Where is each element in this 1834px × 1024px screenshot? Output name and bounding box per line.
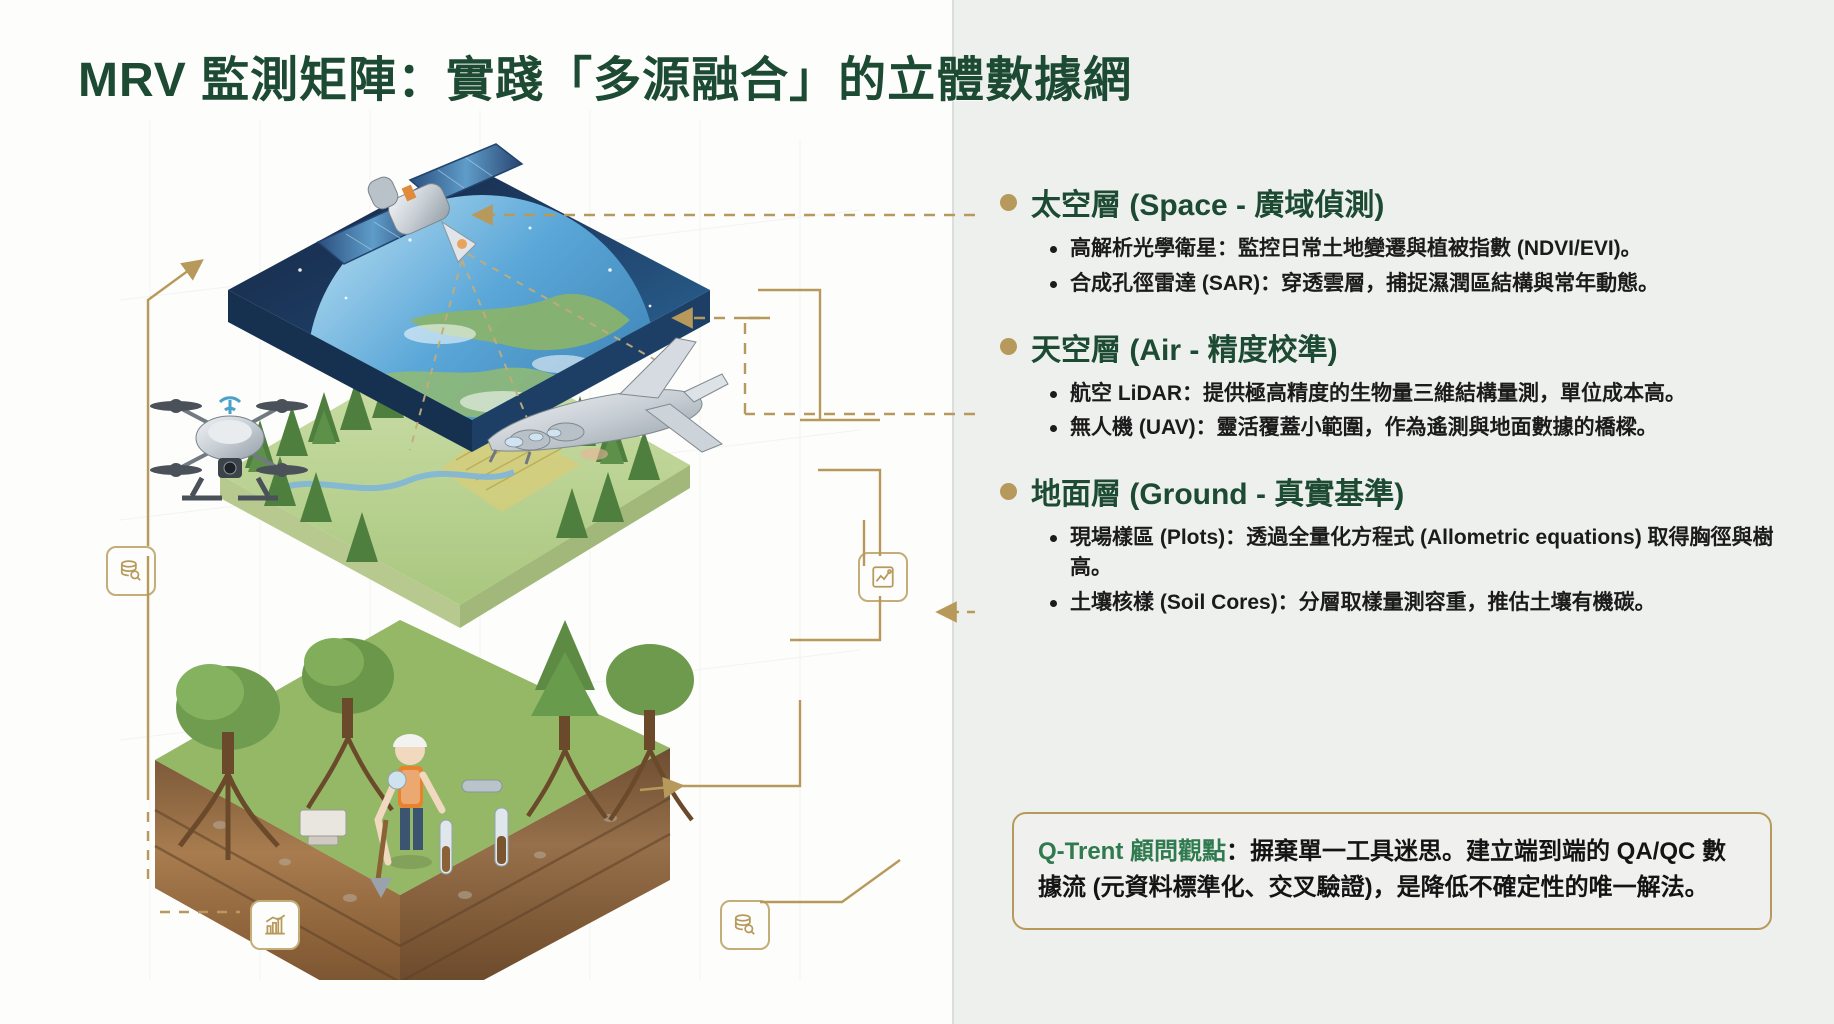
section-ground-header: 地面層 (Ground - 真實基準) <box>1000 469 1800 513</box>
layer-sections: 太空層 (Space - 廣域偵測) 高解析光學衛星：監控日常土地變遷與植被指數… <box>1000 180 1800 644</box>
section-air-bullets: 航空 LiDAR：提供極高精度的生物量三維結構量測，單位成本高。 無人機 (UA… <box>1000 379 1800 444</box>
list-item: 現場樣區 (Plots)：透過全量化方程式 (Allometric equati… <box>1048 523 1800 583</box>
list-item: 土壤核樣 (Soil Cores)：分層取樣量測容重，推估土壤有機碳。 <box>1048 588 1800 618</box>
section-space-title: 太空層 (Space - 廣域偵測) <box>1031 180 1384 224</box>
section-space-header: 太空層 (Space - 廣域偵測) <box>1000 180 1800 224</box>
list-item: 航空 LiDAR：提供極高精度的生物量三維結構量測，單位成本高。 <box>1048 379 1800 409</box>
section-air-title: 天空層 (Air - 精度校準) <box>1031 325 1338 369</box>
advisor-callout: Q-Trent 顧問觀點：摒棄單一工具迷思。建立端到端的 QA/QC 數據流 (… <box>1012 812 1772 930</box>
callout-brand: Q-Trent 顧問觀點 <box>1038 838 1226 865</box>
list-item: 合成孔徑雷達 (SAR)：穿透雲層，捕捉濕潤區結構與常年動態。 <box>1048 269 1800 299</box>
list-item: 無人機 (UAV)：靈活覆蓋小範圍，作為遙測與地面數據的橋樑。 <box>1048 413 1800 443</box>
ground-layer <box>155 620 694 980</box>
callout-text: Q-Trent 顧問觀點：摒棄單一工具迷思。建立端到端的 QA/QC 數據流 (… <box>1038 834 1746 906</box>
bar-chart-icon <box>250 900 300 950</box>
section-ground-title: 地面層 (Ground - 真實基準) <box>1031 469 1404 513</box>
panel-divider <box>952 0 954 1024</box>
mrv-isometric-illustration <box>110 120 850 980</box>
slide-root: MRV 監測矩陣：實踐「多源融合」的立體數據網 <box>0 0 1834 1024</box>
database-search-icon <box>106 546 156 596</box>
list-item: 高解析光學衛星：監控日常土地變遷與植被指數 (NDVI/EVI)。 <box>1048 234 1800 264</box>
section-bullet-dot-space <box>1000 194 1017 211</box>
section-bullet-dot-air <box>1000 338 1017 355</box>
section-bullet-dot-ground <box>1000 483 1017 500</box>
section-ground-bullets: 現場樣區 (Plots)：透過全量化方程式 (Allometric equati… <box>1000 523 1800 617</box>
section-space-bullets: 高解析光學衛星：監控日常土地變遷與植被指數 (NDVI/EVI)。 合成孔徑雷達… <box>1000 234 1800 299</box>
page-title: MRV 監測矩陣：實踐「多源融合」的立體數據網 <box>78 40 1132 110</box>
section-ground: 地面層 (Ground - 真實基準) 現場樣區 (Plots)：透過全量化方程… <box>1000 469 1800 617</box>
database-search-icon-2 <box>720 900 770 950</box>
line-chart-icon <box>858 552 908 602</box>
section-space: 太空層 (Space - 廣域偵測) 高解析光學衛星：監控日常土地變遷與植被指數… <box>1000 180 1800 299</box>
section-air: 天空層 (Air - 精度校準) 航空 LiDAR：提供極高精度的生物量三維結構… <box>1000 325 1800 444</box>
section-air-header: 天空層 (Air - 精度校準) <box>1000 325 1800 369</box>
